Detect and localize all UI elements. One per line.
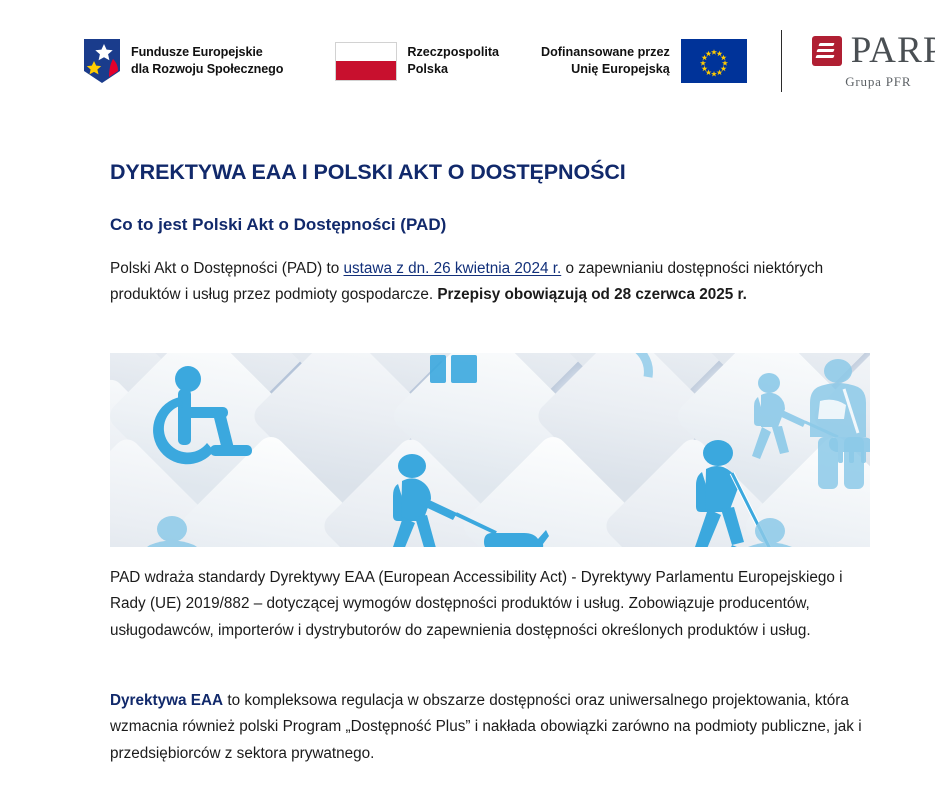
logo-rzeczpospolita-polska: Rzeczpospolita Polska [335,42,499,81]
eu-line-1: Dofinansowane przez [541,45,670,59]
logo-bar: Fundusze Europejskie dla Rozwoju Społecz… [0,0,935,122]
pl-line-1: Rzeczpospolita [407,45,499,59]
parp-stripe-3 [815,55,834,58]
fe-line-1: Fundusze Europejskie [131,45,263,59]
paragraph-3: Dyrektywa EAA to kompleksowa regulacja w… [110,688,880,767]
logo-unia-europejska: Dofinansowane przez Unię Europejską [541,39,747,83]
blue-squares-icon [430,355,477,383]
paragraph-1: Polski Akt o Dostępności (PAD) to ustawa… [110,256,880,309]
parp-wordmark: PARP [851,32,935,69]
parp-stripe-2 [816,49,834,52]
pl-line-2: Polska [407,62,448,76]
parp-logo-row: PARP [812,32,935,69]
ustawa-link[interactable]: ustawa z dn. 26 kwietnia 2024 r. [344,260,562,277]
paragraph-1-block: Polski Akt o Dostępności (PAD) to ustawa… [110,256,880,317]
paragraph-2-block: PAD wdraża standardy Dyrektywy EAA (Euro… [110,565,880,652]
page-title: DYREKTYWA EAA I POLSKI AKT O DOSTĘPNOŚCI [110,160,872,186]
parp-icon [812,36,842,66]
paragraph-2: PAD wdraża standardy Dyrektywy EAA (Euro… [110,565,880,644]
paragraph-3-rest: to kompleksowa regulacja w obszarze dost… [110,692,862,762]
fundusze-europejskie-label: Fundusze Europejskie dla Rozwoju Społecz… [131,44,283,79]
paragraph-1-part-1: Polski Akt o Dostępności (PAD) to [110,260,344,277]
eu-flag-icon [681,39,747,83]
paragraph-1-bold-tail: Przepisy obowiązują od 28 czerwca 2025 r… [437,286,746,303]
section-title: Co to jest Polski Akt o Dostępności (PAD… [110,214,872,235]
eu-line-2: Unię Europejską [571,62,670,76]
flag-stripe-red [336,61,396,80]
header-divider [781,30,782,92]
logo-fundusze-europejskie: Fundusze Europejskie dla Rozwoju Społecz… [82,37,283,85]
main-content: DYREKTYWA EAA I POLSKI AKT O DOSTĘPNOŚCI… [110,160,872,249]
fundusze-europejskie-icon [82,37,122,85]
fe-line-2: dla Rozwoju Społecznego [131,62,283,76]
accessibility-hero-image [110,353,870,547]
paragraph-3-block: Dyrektywa EAA to kompleksowa regulacja w… [110,688,880,775]
paragraph-3-bold-lead: Dyrektywa EAA [110,692,223,709]
unia-europejska-label: Dofinansowane przez Unię Europejską [541,44,670,79]
rzeczpospolita-polska-label: Rzeczpospolita Polska [407,44,499,79]
logo-parp: PARP Grupa PFR [812,32,935,90]
parp-subtitle: Grupa PFR [845,74,911,90]
parp-stripe-1 [818,43,834,46]
polish-flag-icon [335,42,397,81]
flag-stripe-white [336,43,396,62]
